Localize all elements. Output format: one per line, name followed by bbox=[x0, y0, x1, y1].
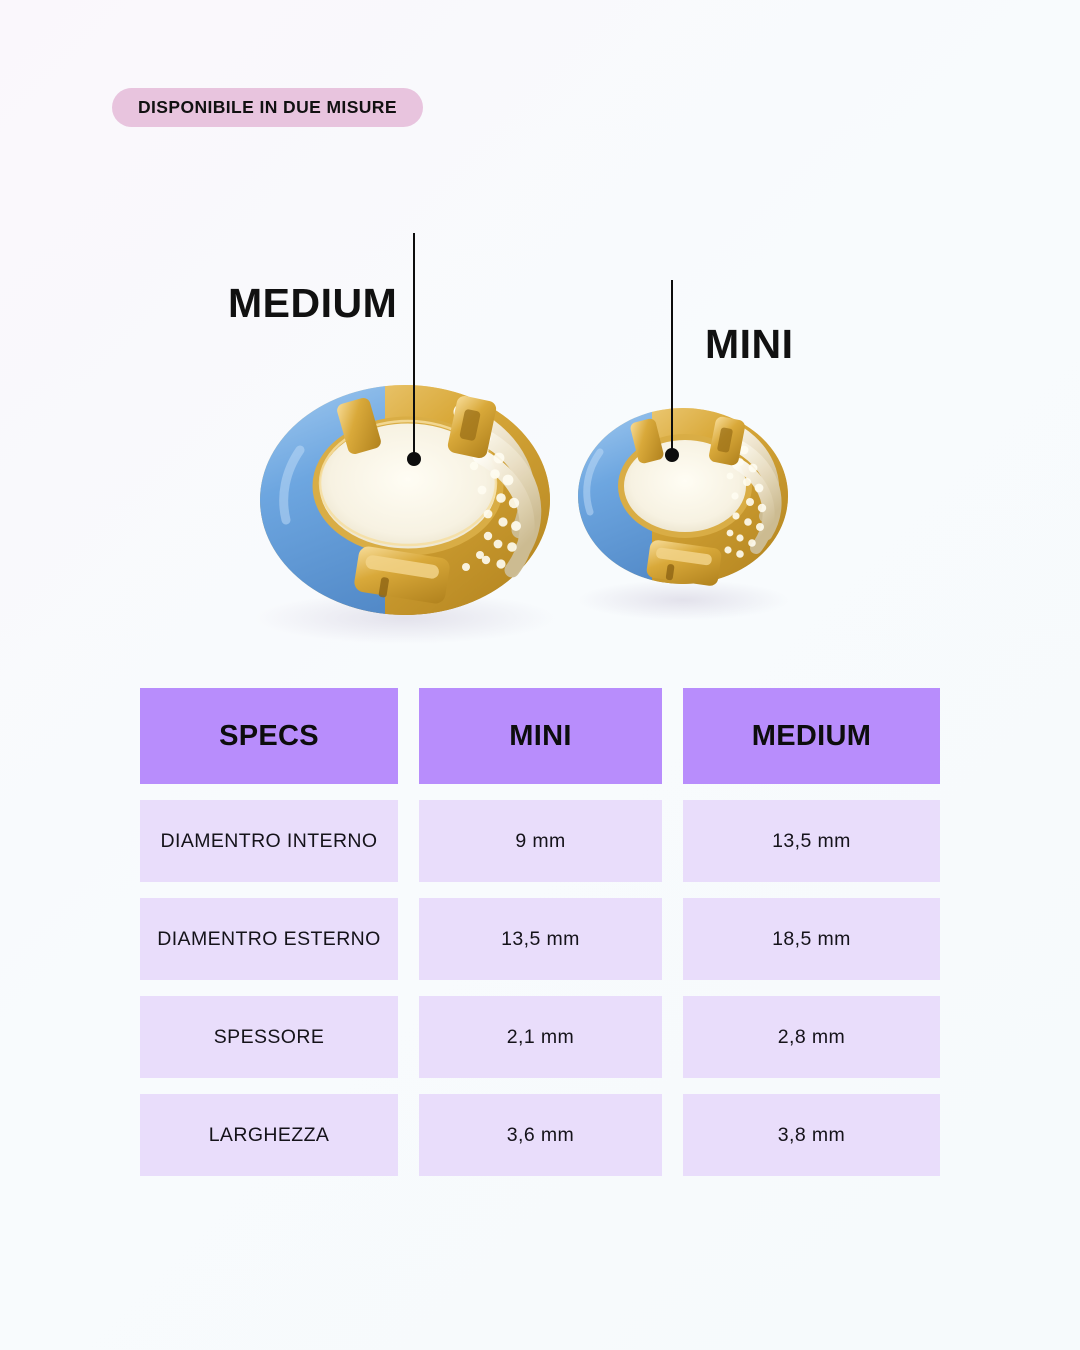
table-header-mini: MINI bbox=[419, 688, 662, 784]
table-cell-mini: 3,6 mm bbox=[419, 1094, 662, 1176]
table-cell-mini-value: 2,1 mm bbox=[507, 1026, 574, 1049]
table-cell-medium: 18,5 mm bbox=[683, 898, 940, 980]
mini-hoop-graphic bbox=[578, 408, 788, 587]
table-cell-mini-value: 3,6 mm bbox=[507, 1124, 574, 1147]
availability-badge: DISPONIBILE IN DUE MISURE bbox=[112, 88, 423, 127]
table-cell-mini: 9 mm bbox=[419, 800, 662, 882]
mini-leader-dot bbox=[665, 448, 679, 462]
mini-size-label: MINI bbox=[705, 321, 794, 368]
table-cell-spec-label: DIAMENTRO INTERNO bbox=[161, 830, 378, 853]
table-header-mini-label: MINI bbox=[509, 720, 571, 753]
table-cell-spec: DIAMENTRO ESTERNO bbox=[140, 898, 398, 980]
table-row: LARGHEZZA 3,6 mm 3,8 mm bbox=[140, 1094, 940, 1176]
medium-hoop-graphic bbox=[260, 385, 550, 615]
availability-badge-label: DISPONIBILE IN DUE MISURE bbox=[138, 97, 397, 118]
medium-size-label: MEDIUM bbox=[228, 280, 397, 327]
table-cell-medium: 2,8 mm bbox=[683, 996, 940, 1078]
table-cell-mini-value: 9 mm bbox=[515, 830, 565, 853]
table-cell-medium: 3,8 mm bbox=[683, 1094, 940, 1176]
table-cell-medium: 13,5 mm bbox=[683, 800, 940, 882]
table-cell-spec: DIAMENTRO INTERNO bbox=[140, 800, 398, 882]
table-row: SPESSORE 2,1 mm 2,8 mm bbox=[140, 996, 940, 1078]
table-cell-spec: SPESSORE bbox=[140, 996, 398, 1078]
medium-leader-dot bbox=[407, 452, 421, 466]
table-header-specs-label: SPECS bbox=[219, 720, 319, 753]
table-cell-medium-value: 13,5 mm bbox=[772, 830, 851, 853]
medium-leader-line bbox=[413, 233, 415, 459]
table-cell-mini-value: 13,5 mm bbox=[501, 928, 580, 951]
table-cell-spec-label: SPESSORE bbox=[214, 1026, 325, 1049]
table-header-specs: SPECS bbox=[140, 688, 398, 784]
table-cell-mini: 2,1 mm bbox=[419, 996, 662, 1078]
page-canvas: DISPONIBILE IN DUE MISURE bbox=[0, 0, 1080, 1350]
table-row: DIAMENTRO ESTERNO 13,5 mm 18,5 mm bbox=[140, 898, 940, 980]
table-cell-medium-value: 18,5 mm bbox=[772, 928, 851, 951]
table-row: DIAMENTRO INTERNO 9 mm 13,5 mm bbox=[140, 800, 940, 882]
table-cell-mini: 13,5 mm bbox=[419, 898, 662, 980]
table-header-row: SPECS MINI MEDIUM bbox=[140, 688, 940, 784]
table-header-medium: MEDIUM bbox=[683, 688, 940, 784]
hoops-illustration bbox=[0, 200, 1080, 670]
product-photo bbox=[0, 200, 1080, 670]
mini-leader-line bbox=[671, 280, 673, 455]
table-cell-spec-label: LARGHEZZA bbox=[209, 1124, 330, 1147]
table-header-medium-label: MEDIUM bbox=[752, 720, 871, 753]
table-cell-medium-value: 3,8 mm bbox=[778, 1124, 845, 1147]
table-cell-medium-value: 2,8 mm bbox=[778, 1026, 845, 1049]
table-cell-spec-label: DIAMENTRO ESTERNO bbox=[157, 928, 380, 951]
table-cell-spec: LARGHEZZA bbox=[140, 1094, 398, 1176]
specs-table: SPECS MINI MEDIUM DIAMENTRO INTERNO 9 mm… bbox=[140, 688, 940, 1176]
